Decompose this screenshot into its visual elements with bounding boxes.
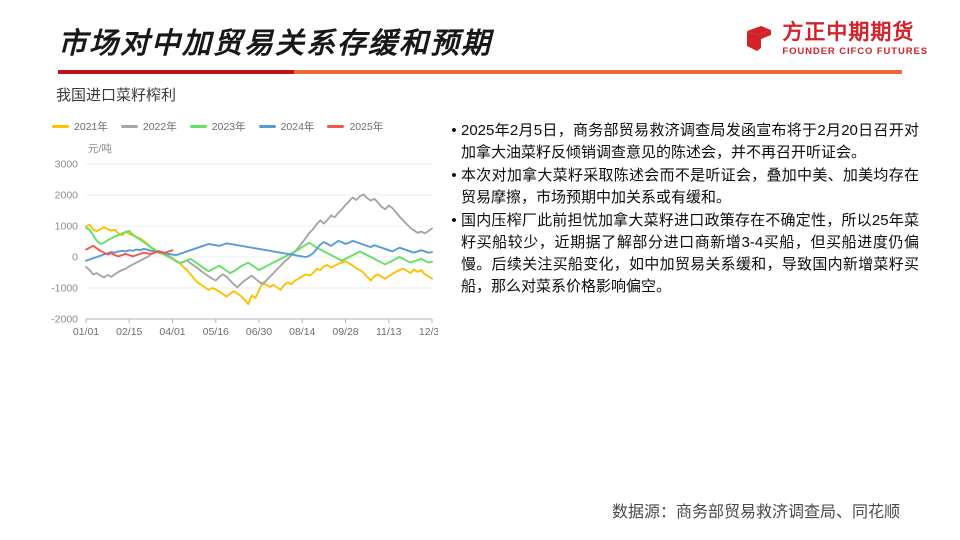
logo-text-block: 方正中期期货 FOUNDER CIFCO FUTURES [782, 22, 928, 57]
founder-cube-icon [744, 24, 774, 54]
data-source-note: 数据源：商务部贸易救济调查局、同花顺 [612, 498, 900, 522]
bullet-item: •国内压榨厂此前担忧加拿大菜籽进口政策存在不确定性，所以25年菜籽买船较少，近期… [447, 210, 919, 298]
series-line-2021年 [86, 225, 432, 304]
bullet-list: •2025年2月5日，商务部贸易救济调查局发函宣布将于2月20日召开对加拿大油菜… [447, 120, 919, 299]
legend-item-2025年[interactable]: 2025年 [327, 119, 383, 134]
x-axis-tick-label: 08/14 [289, 326, 315, 338]
chart-title: 我国进口菜籽榨利 [56, 84, 438, 105]
legend-swatch-icon [121, 125, 138, 129]
line-chart-svg: 3000200010000-1000-200001/0102/1504/0105… [38, 158, 438, 343]
legend-swatch-icon [52, 125, 69, 129]
header-divider [58, 70, 902, 74]
y-axis-unit-label: 元/吨 [88, 141, 438, 156]
bullet-item: •2025年2月5日，商务部贸易救济调查局发函宣布将于2月20日召开对加拿大油菜… [447, 120, 919, 164]
x-axis-tick-label: 09/28 [332, 326, 358, 338]
legend-item-2022年[interactable]: 2022年 [121, 119, 177, 134]
bullet-item: •本次对加拿大菜籽采取陈述会而不是听证会，叠加中美、加美均存在贸易摩擦，市场预期… [447, 165, 919, 209]
header-divider-dark [58, 70, 294, 74]
legend-swatch-icon [327, 125, 344, 129]
chart-plot-area: 3000200010000-1000-200001/0102/1504/0105… [38, 158, 438, 348]
x-axis-tick-label: 01/01 [73, 326, 99, 338]
logo-english-name: FOUNDER CIFCO FUTURES [782, 47, 928, 57]
legend-label: 2025年 [349, 119, 383, 134]
y-axis-tick-label: 0 [72, 252, 78, 264]
bullet-text: 本次对加拿大菜籽采取陈述会而不是听证会，叠加中美、加美均存在贸易摩擦，市场预期中… [461, 165, 919, 209]
bullet-marker-icon: • [447, 165, 461, 209]
series-line-2022年 [86, 194, 432, 287]
bullet-text: 2025年2月5日，商务部贸易救济调查局发函宣布将于2月20日召开对加拿大油菜籽… [461, 120, 919, 164]
bullet-marker-icon: • [447, 210, 461, 298]
legend-label: 2024年 [281, 119, 315, 134]
x-axis-tick-label: 06/30 [246, 326, 272, 338]
y-axis-tick-label: 2000 [55, 190, 79, 202]
legend-swatch-icon [190, 125, 207, 129]
legend-item-2024年[interactable]: 2024年 [259, 119, 315, 134]
legend-item-2023年[interactable]: 2023年 [190, 119, 246, 134]
header-divider-light [294, 70, 902, 74]
x-axis-tick-label: 11/13 [376, 326, 402, 338]
chart-panel: 我国进口菜籽榨利 2021年2022年2023年2024年2025年 元/吨 3… [38, 84, 438, 369]
legend-label: 2021年 [74, 119, 108, 134]
legend-label: 2022年 [143, 119, 177, 134]
page-title: 市场对中加贸易关系存缓和预期 [58, 20, 492, 62]
x-axis-tick-label: 02/15 [116, 326, 142, 338]
slide-canvas: 市场对中加贸易关系存缓和预期 方正中期期货 FOUNDER CIFCO FUTU… [0, 0, 960, 540]
x-axis-tick-label: 12/31 [419, 326, 438, 338]
logo-chinese-name: 方正中期期货 [782, 22, 928, 43]
legend-item-2021年[interactable]: 2021年 [52, 119, 108, 134]
y-axis-tick-label: -1000 [51, 283, 78, 295]
series-line-2024年 [86, 241, 432, 261]
chart-legend: 2021年2022年2023年2024年2025年 [52, 119, 438, 134]
legend-swatch-icon [259, 125, 276, 129]
y-axis-tick-label: -2000 [51, 314, 78, 326]
bullet-marker-icon: • [447, 120, 461, 164]
y-axis-tick-label: 3000 [55, 159, 79, 171]
x-axis-tick-label: 04/01 [159, 326, 185, 338]
company-logo: 方正中期期货 FOUNDER CIFCO FUTURES [744, 22, 928, 57]
bullet-text: 国内压榨厂此前担忧加拿大菜籽进口政策存在不确定性，所以25年菜籽买船较少，近期据… [461, 210, 919, 298]
x-axis-tick-label: 05/16 [203, 326, 229, 338]
legend-label: 2023年 [212, 119, 246, 134]
y-axis-tick-label: 1000 [55, 221, 79, 233]
